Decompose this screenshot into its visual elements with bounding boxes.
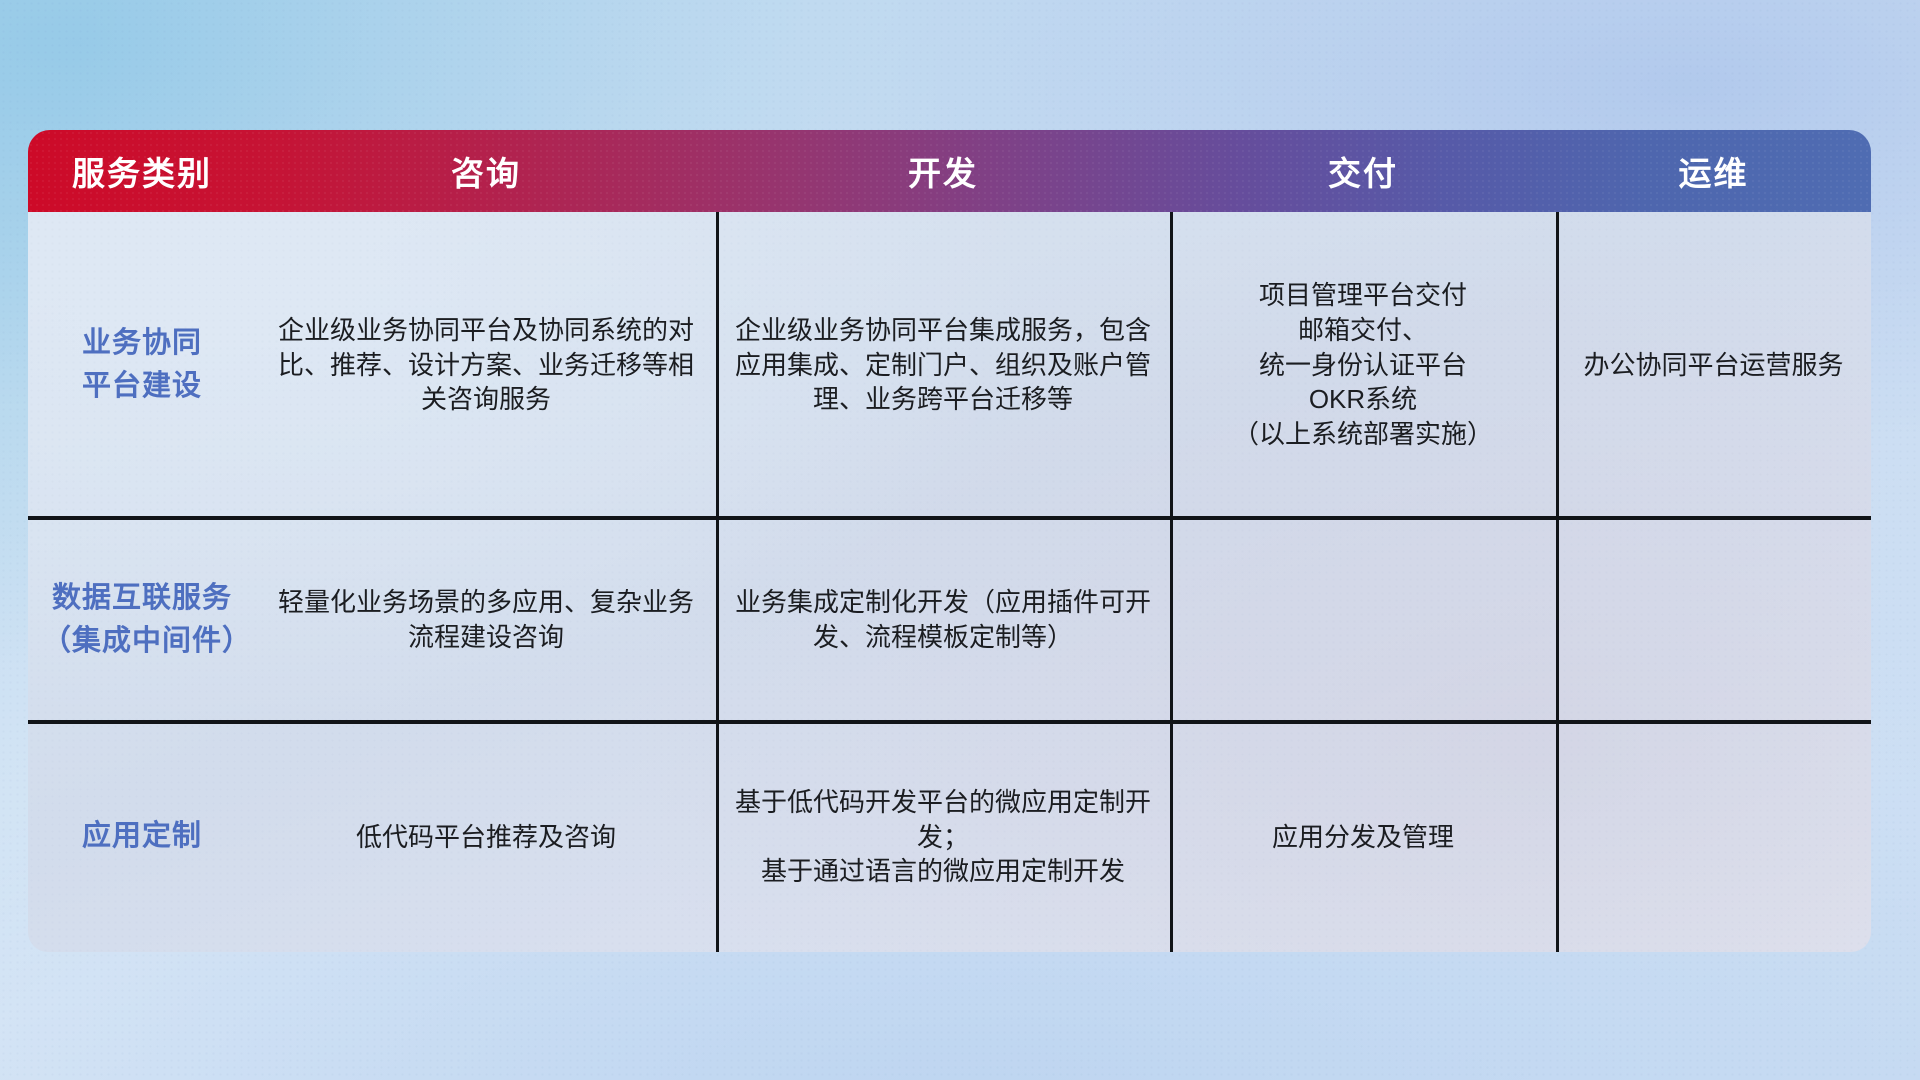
table-row: 业务协同 平台建设 企业级业务协同平台及协同系统的对比、推荐、设计方案、业务迁移… xyxy=(28,212,1871,518)
cell-consulting: 轻量化业务场景的多应用、复杂业务流程建设咨询 xyxy=(256,518,716,722)
cell-operations xyxy=(1556,722,1871,952)
row-divider-1 xyxy=(28,516,1871,520)
column-header-delivery: 交付 xyxy=(1170,147,1556,195)
cell-delivery: 项目管理平台交付 邮箱交付、 统一身份认证平台 OKR系统 （以上系统部署实施） xyxy=(1170,212,1556,518)
service-matrix-table: 服务类别 咨询 开发 交付 运维 业务协同 平台建设 企业级业务协同平台及协同系… xyxy=(28,130,1871,952)
cell-category: 应用定制 xyxy=(28,722,256,952)
table-row: 数据互联服务 （集成中间件） 轻量化业务场景的多应用、复杂业务流程建设咨询 业务… xyxy=(28,518,1871,722)
column-header-service-category: 服务类别 xyxy=(28,147,256,195)
cell-category: 数据互联服务 （集成中间件） xyxy=(28,518,256,722)
column-divider-1 xyxy=(716,212,719,952)
column-header-development: 开发 xyxy=(716,147,1170,195)
cell-consulting: 低代码平台推荐及咨询 xyxy=(256,722,716,952)
column-header-consulting: 咨询 xyxy=(256,147,716,195)
row-divider-2 xyxy=(28,720,1871,724)
cell-delivery xyxy=(1170,518,1556,722)
column-divider-2 xyxy=(1170,212,1173,952)
cell-development: 业务集成定制化开发（应用插件可开发、流程模板定制等） xyxy=(716,518,1170,722)
cell-operations: 办公协同平台运营服务 xyxy=(1556,212,1871,518)
column-header-operations: 运维 xyxy=(1556,147,1871,195)
cell-consulting: 企业级业务协同平台及协同系统的对比、推荐、设计方案、业务迁移等相关咨询服务 xyxy=(256,212,716,518)
slide-canvas: 服务类别 咨询 开发 交付 运维 业务协同 平台建设 企业级业务协同平台及协同系… xyxy=(0,0,1920,1080)
table-body: 业务协同 平台建设 企业级业务协同平台及协同系统的对比、推荐、设计方案、业务迁移… xyxy=(28,212,1871,952)
cell-development: 基于低代码开发平台的微应用定制开发； 基于通过语言的微应用定制开发 xyxy=(716,722,1170,952)
table-header-row: 服务类别 咨询 开发 交付 运维 xyxy=(28,130,1871,212)
column-divider-3 xyxy=(1556,212,1559,952)
cell-operations xyxy=(1556,518,1871,722)
cell-category: 业务协同 平台建设 xyxy=(28,212,256,518)
cell-delivery: 应用分发及管理 xyxy=(1170,722,1556,952)
cell-development: 企业级业务协同平台集成服务，包含应用集成、定制门户、组织及账户管理、业务跨平台迁… xyxy=(716,212,1170,518)
table-row: 应用定制 低代码平台推荐及咨询 基于低代码开发平台的微应用定制开发； 基于通过语… xyxy=(28,722,1871,952)
